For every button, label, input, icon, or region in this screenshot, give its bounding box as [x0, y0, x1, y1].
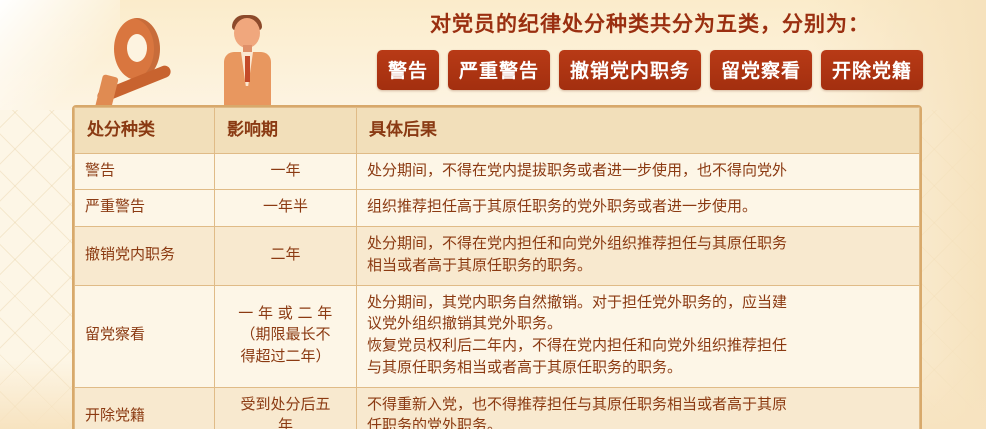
cell-type: 警告: [75, 153, 215, 190]
consequence-line: 处分期间，不得在党内提拔职务或者进一步使用，也不得向党外: [367, 161, 909, 183]
cell-type: 严重警告: [75, 190, 215, 227]
period-line: 年: [225, 416, 346, 429]
table-row: 留党察看 一 年 或 二 年 （期限最长不 得超过二年） 处分期间，其党内职务自…: [75, 285, 920, 387]
cell-period: 受到处分后五 年: [215, 387, 357, 429]
badge-revoke-party-post: 撤销党内职务: [559, 50, 701, 90]
cell-consequence: 处分期间，其党内职务自然撤销。对于担任党外职务的，应当建 议党外组织撤销其党外职…: [357, 285, 920, 387]
cell-period: 一年半: [215, 190, 357, 227]
table-row: 开除党籍 受到处分后五 年 不得重新入党，也不得推荐担任与其原任职务相当或者高于…: [75, 387, 920, 429]
consequence-line: 议党外组织撤销其党外职务。: [367, 314, 909, 336]
cell-period: 一 年 或 二 年 （期限最长不 得超过二年）: [215, 285, 357, 387]
consequence-line: 处分期间，不得在党内担任和向党外组织推荐担任与其原任职务: [367, 234, 909, 256]
consequence-line: 相当或者高于其原任职务的职务。: [367, 256, 909, 278]
cell-period: 二年: [215, 227, 357, 286]
column-header-consequence: 具体后果: [357, 108, 920, 154]
badge-warning: 警告: [377, 50, 439, 90]
cell-type: 留党察看: [75, 285, 215, 387]
poster-root: 对党员的纪律处分种类共分为五类，分别为： 警告 严重警告 撤销党内职务 留党察看…: [0, 0, 986, 429]
person-tie-shape: [245, 56, 250, 82]
consequence-line: 恢复党员权利后二年内，不得在党内担任和向党外组织推荐担任: [367, 336, 909, 358]
cell-consequence: 处分期间，不得在党内提拔职务或者进一步使用，也不得向党外: [357, 153, 920, 190]
consequence-line: 处分期间，其党内职务自然撤销。对于担任党外职务的，应当建: [367, 293, 909, 315]
header: 对党员的纪律处分种类共分为五类，分别为： 警告 严重警告 撤销党内职务 留党察看…: [330, 8, 970, 90]
period-line: 受到处分后五: [225, 395, 346, 417]
cell-type: 撤销党内职务: [75, 227, 215, 286]
badge-expulsion: 开除党籍: [821, 50, 923, 90]
cell-consequence: 不得重新入党，也不得推荐担任与其原任职务相当或者高于其原 任职务的党外职务。: [357, 387, 920, 429]
discipline-table-container: 处分种类 影响期 具体后果 警告 一年 处分期间，不得在党内提拔职务或者进一步使…: [72, 105, 922, 429]
consequence-line: 不得重新入党，也不得推荐担任与其原任职务相当或者高于其原: [367, 395, 909, 417]
cell-period: 一年: [215, 153, 357, 190]
table-row: 严重警告 一年半 组织推荐担任高于其原任职务的党外职务或者进一步使用。: [75, 190, 920, 227]
period-line: 得超过二年）: [225, 347, 346, 369]
column-header-type: 处分种类: [75, 108, 215, 154]
column-header-period: 影响期: [215, 108, 357, 154]
consequence-line: 与其原任职务相当或者高于其原任职务的职务。: [367, 358, 909, 380]
person-head-shape: [234, 18, 260, 48]
badge-list: 警告 严重警告 撤销党内职务 留党察看 开除党籍: [330, 50, 970, 90]
badge-probation: 留党察看: [710, 50, 812, 90]
badge-serious-warning: 严重警告: [448, 50, 550, 90]
consequence-line: 组织推荐担任高于其原任职务的党外职务或者进一步使用。: [367, 197, 909, 219]
page-title: 对党员的纪律处分种类共分为五类，分别为：: [330, 8, 970, 38]
discipline-table: 处分种类 影响期 具体后果 警告 一年 处分期间，不得在党内提拔职务或者进一步使…: [74, 107, 920, 429]
cell-consequence: 组织推荐担任高于其原任职务的党外职务或者进一步使用。: [357, 190, 920, 227]
period-line: （期限最长不: [225, 325, 346, 347]
cell-type: 开除党籍: [75, 387, 215, 429]
table-row: 撤销党内职务 二年 处分期间，不得在党内担任和向党外组织推荐担任与其原任职务 相…: [75, 227, 920, 286]
consequence-line: 任职务的党外职务。: [367, 416, 909, 429]
period-line: 一 年 或 二 年: [225, 304, 346, 326]
table-header-row: 处分种类 影响期 具体后果: [75, 108, 920, 154]
gavel-hole-shape: [127, 34, 147, 62]
table-row: 警告 一年 处分期间，不得在党内提拔职务或者进一步使用，也不得向党外: [75, 153, 920, 190]
cell-consequence: 处分期间，不得在党内担任和向党外组织推荐担任与其原任职务 相当或者高于其原任职务…: [357, 227, 920, 286]
